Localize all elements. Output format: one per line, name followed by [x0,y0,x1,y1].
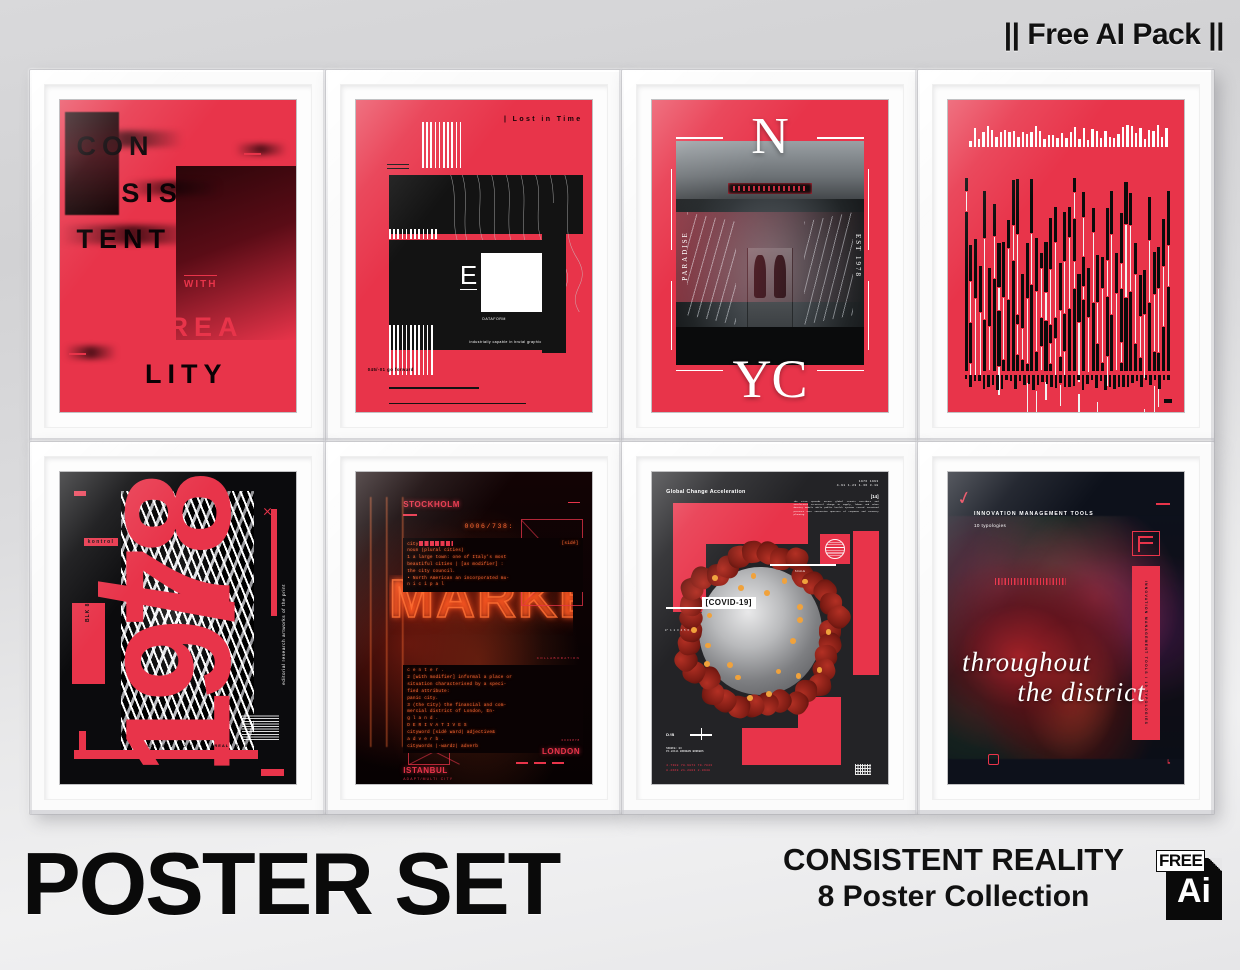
framed-poster-7[interactable]: Global Change Acceleration 1976 1993 4.9… [622,442,918,814]
globe-icon [820,534,850,564]
check-mark-icon: ✓ [955,486,975,510]
poster7-bottom-caption: SOURCE: 03 PC.22111 BORDERS BORDERS [666,747,703,755]
crosshair-icon [690,728,712,740]
poster6-code-small: 0003878 [562,738,581,742]
x-mark-icon [263,506,272,515]
poster6-city-istanbul: ISTANBUL [403,766,448,775]
poster2-caption-1: DATAFORM [482,317,506,321]
framed-poster-6[interactable]: MARKET STOCKHOLM 0006/738: city[sidé] no… [326,442,622,814]
red-bar [79,731,86,759]
artwork-2-lost-in-time: | Lost in Time [356,100,592,412]
poster-set-mockup: || Free AI Pack || CON SIS TENT [0,0,1240,970]
definition-line: fied attribute: [407,689,578,696]
framed-poster-1[interactable]: CON SIS TENT REA LITY WITH [30,70,326,442]
artwork-6-market: MARKET STOCKHOLM 0006/738: city[sidé] no… [356,472,592,784]
definition-line: cityword [sidé ward| adjective& [407,730,578,737]
poster5-mini-caption-right: REAL . SIDE [214,743,249,748]
virus-illustration [676,547,846,715]
red-bar [271,509,277,615]
poster7-index: [14] [871,494,879,499]
poster7-top-numbers: 1976 1993 4.91 1.23 1.36 3.18 [837,480,879,488]
footer-subtitle-line-2: 8 Poster Collection [783,879,1124,914]
square-icon [988,754,999,765]
poster8-script: throughout the district [962,647,1174,707]
bracket-rule [671,169,672,250]
accent-dash [1156,503,1170,504]
poster5-badge: kontrol [84,538,119,546]
rule-line [389,387,479,389]
artwork-1-consistent-with-reality: CON SIS TENT REA LITY WITH [60,100,296,412]
poster2-caption-2: industrially capable in brutal graphic [469,340,541,344]
underline [403,514,417,515]
block-glyphs [419,541,453,546]
free-ai-pack-banner: || Free AI Pack || [1004,18,1224,52]
poster1-word-sis: SIS [121,180,183,207]
white-box [481,253,542,312]
rule-line [389,403,526,405]
poster6-definition-block-bottom: c e n t e r . 2 [with modifier] informal… [403,665,582,753]
accent-dash [244,153,261,155]
artwork-8-throughout-the-district: ✓ INNOVATION MANAGEMENT TOOLS 10 typolog… [948,472,1184,784]
footer-subtitle: CONSISTENT REALITY 8 Poster Collection [783,842,1124,914]
numbers-values: 4.91 1.23 1.36 3.18 [837,484,879,488]
caption-line: PC.22111 BORDERS BORDERS [666,750,703,754]
equals-mark [387,164,409,169]
poster2-header: | Lost in Time [504,116,583,123]
poster6-code: 0006/738: [465,523,515,530]
poster6-definition-block-top: city[sidé] noun (plural cities) 1 a larg… [403,538,582,593]
bracket-rule [676,370,723,371]
poster6-city-london: LONDON [542,747,580,756]
bar-field [965,156,1170,371]
poster6-city-stockholm: STOCKHOLM [403,500,460,509]
bracket-rule [817,370,864,371]
artwork-7-covid: Global Change Acceleration 1976 1993 4.9… [652,472,888,784]
badge-free-label: FREE [1156,850,1205,872]
bracket-rule [671,281,672,350]
framed-poster-3[interactable]: N YC PARADISE EST 1978 [622,70,918,442]
poster1-word-con: CON [77,133,155,160]
artwork-3-nyc: N YC PARADISE EST 1978 [652,100,888,412]
poster2-caption-3: 045/-01 go forward [368,367,414,372]
bracket-rule [868,281,869,350]
comb-lines-top [422,122,461,168]
numbers-line: 4.7308 78.9871 79.7843 [666,764,712,769]
subway-photo [676,141,865,366]
framed-poster-8[interactable]: ✓ INNOVATION MANAGEMENT TOOLS 10 typolog… [918,442,1214,814]
poster-wall-grid: CON SIS TENT REA LITY WITH | Lost [0,60,1240,830]
corner-mark: ┕ [1166,760,1170,767]
red-shape [853,531,879,675]
bracket-rule [868,169,869,250]
definition-line: the city council. [407,569,578,576]
texture-block [242,715,280,740]
artwork-5-1978: 1978 kontrol editorial research artworks… [60,472,296,784]
poster1-connector-with: WITH [184,275,218,290]
poster3-label-est: EST 1978 [854,234,862,278]
numbers-line: 8.2669 21.2803 2.0948 [666,769,712,774]
poster2-letter-e: E [460,262,477,290]
poster8-subtitle: 10 typologies [974,523,1006,528]
tick-column: 0° 1 2 3 4 5 6 [665,628,689,634]
bracket-rule [676,137,723,138]
poster7-covid-label: [COVID-19] [702,597,756,609]
framed-poster-4[interactable] [918,70,1214,442]
poster5-vertical-left: BLK 87 [85,599,91,622]
poster6-ipa: [sidé] [562,541,579,548]
definition-line: D E R I V A T I V E S [407,723,578,730]
definition-line: beautiful cities | [as modifier] : [407,562,578,569]
poster1-word-tent: TENT [77,226,172,253]
accent-dash [568,502,580,504]
top-tick-row [969,125,1167,147]
zigzag-rule [995,578,1066,585]
poster7-bottom-numbers: 4.7308 78.9871 79.7843 8.2669 21.2803 2.… [666,764,712,773]
poster5-mini-caption-left: COLLECT . JOIN [147,743,193,748]
logo-mark [1132,531,1160,556]
definition-line: 1 a large town: one of Italy's most [407,555,578,562]
comb-lines-mid [389,229,437,239]
accent-dash [69,353,86,355]
poster7-paragraph: the virus spreads across global transit … [794,500,879,516]
poster7-header: Global Change Acceleration [666,489,746,495]
poster3-label-paradise: PARADISE [681,231,689,281]
dash-row [516,762,564,763]
poster7-small-label: D/B [666,732,675,737]
artwork-4-data-bars [948,100,1184,412]
badge-format-label: Ai [1166,874,1222,908]
definition-line: n i c i p a l [407,582,578,589]
red-shape [673,503,808,544]
framed-poster-2[interactable]: | Lost in Time [326,70,622,442]
poster7-bar-caption: SCALE [795,570,806,573]
bottom-tick-row [965,375,1170,391]
corner-mark [1164,399,1172,403]
definition-line: panic city. [407,696,578,703]
free-ai-file-badge: Ai FREE [1160,848,1222,922]
definition-line: situation characterised by a speci- [407,682,578,689]
poster6-collaboration-label: COLLABORATION [537,656,580,660]
poster3-letters-yc: YC [652,352,888,406]
qr-mark [855,764,871,775]
poster1-word-lity: LITY [145,361,228,388]
red-bar [74,750,258,759]
definition-line: a d v e r b . [407,737,578,744]
red-bar [74,491,86,496]
script-line-2: the district [962,677,1174,707]
script-line-1: throughout [962,647,1091,677]
poster6-city-istanbul-sub: ADAPT/MULTI CITY [403,777,453,781]
poster6-term-city: city [407,542,418,547]
scale-bar [770,564,836,566]
red-shape [742,728,841,765]
framed-poster-5[interactable]: 1978 kontrol editorial research artworks… [30,442,326,814]
red-bar [261,769,285,776]
footer-title: POSTER SET [22,840,559,928]
leader-line [666,607,703,609]
poster8-title: INNOVATION MANAGEMENT TOOLS [974,511,1094,517]
page-fold-icon [1208,858,1222,871]
footer-subtitle-line-1: CONSISTENT REALITY [783,842,1124,879]
poster5-vertical-right: editorial research artworks of the print [281,584,286,685]
bracket-rule [817,137,864,138]
poster1-word-rea: REA [169,314,244,341]
footer-band: POSTER SET CONSISTENT REALITY 8 Poster C… [0,830,1240,970]
